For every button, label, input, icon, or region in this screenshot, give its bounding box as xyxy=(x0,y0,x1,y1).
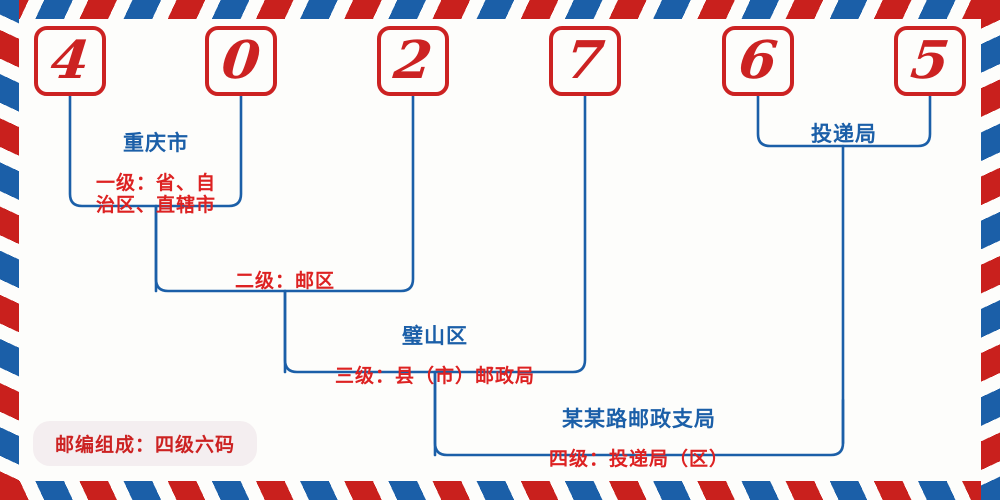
postcode-composition-text: 邮编组成：四级六码 xyxy=(55,434,235,456)
digit-glyph-2: 0 xyxy=(219,35,262,87)
label-level-4: 某某路邮政支局 四级：投递局（区） xyxy=(447,389,831,489)
postal-code-diagram: 4 0 2 7 6 5 重庆市 一级：省、自 治区、直辖市 二级：邮区 璧山区 … xyxy=(0,0,1000,500)
label-level-1-title: 重庆市 xyxy=(76,131,236,155)
digit-box-4[interactable]: 7 xyxy=(549,26,621,96)
label-level-2: 二级：邮区 xyxy=(185,252,385,310)
digit-box-6[interactable]: 5 xyxy=(894,26,966,96)
label-level-2-subtitle: 二级：邮区 xyxy=(185,271,385,292)
label-level-3-subtitle: 三级：县（市）邮政局 xyxy=(297,366,573,387)
label-delivery-office: 投递局 xyxy=(770,104,918,163)
digit-glyph-5: 6 xyxy=(736,35,779,87)
digit-box-2[interactable]: 0 xyxy=(205,26,277,96)
digit-box-1[interactable]: 4 xyxy=(34,26,106,96)
digit-box-5[interactable]: 6 xyxy=(722,26,794,96)
label-level-1: 重庆市 一级：省、自 治区、直辖市 xyxy=(76,113,236,234)
digit-glyph-1: 4 xyxy=(48,35,91,87)
digit-glyph-4: 7 xyxy=(563,35,606,87)
label-level-4-title: 某某路邮政支局 xyxy=(447,407,831,431)
postcode-composition-badge: 邮编组成：四级六码 xyxy=(33,421,257,466)
digit-glyph-6: 5 xyxy=(908,35,951,87)
label-level-3-title: 璧山区 xyxy=(297,324,573,348)
label-level-4-subtitle: 四级：投递局（区） xyxy=(447,449,831,470)
digit-glyph-3: 2 xyxy=(391,35,434,87)
label-delivery-office-title: 投递局 xyxy=(770,122,918,146)
label-level-1-subtitle: 一级：省、自 治区、直辖市 xyxy=(76,173,236,216)
digit-box-3[interactable]: 2 xyxy=(377,26,449,96)
